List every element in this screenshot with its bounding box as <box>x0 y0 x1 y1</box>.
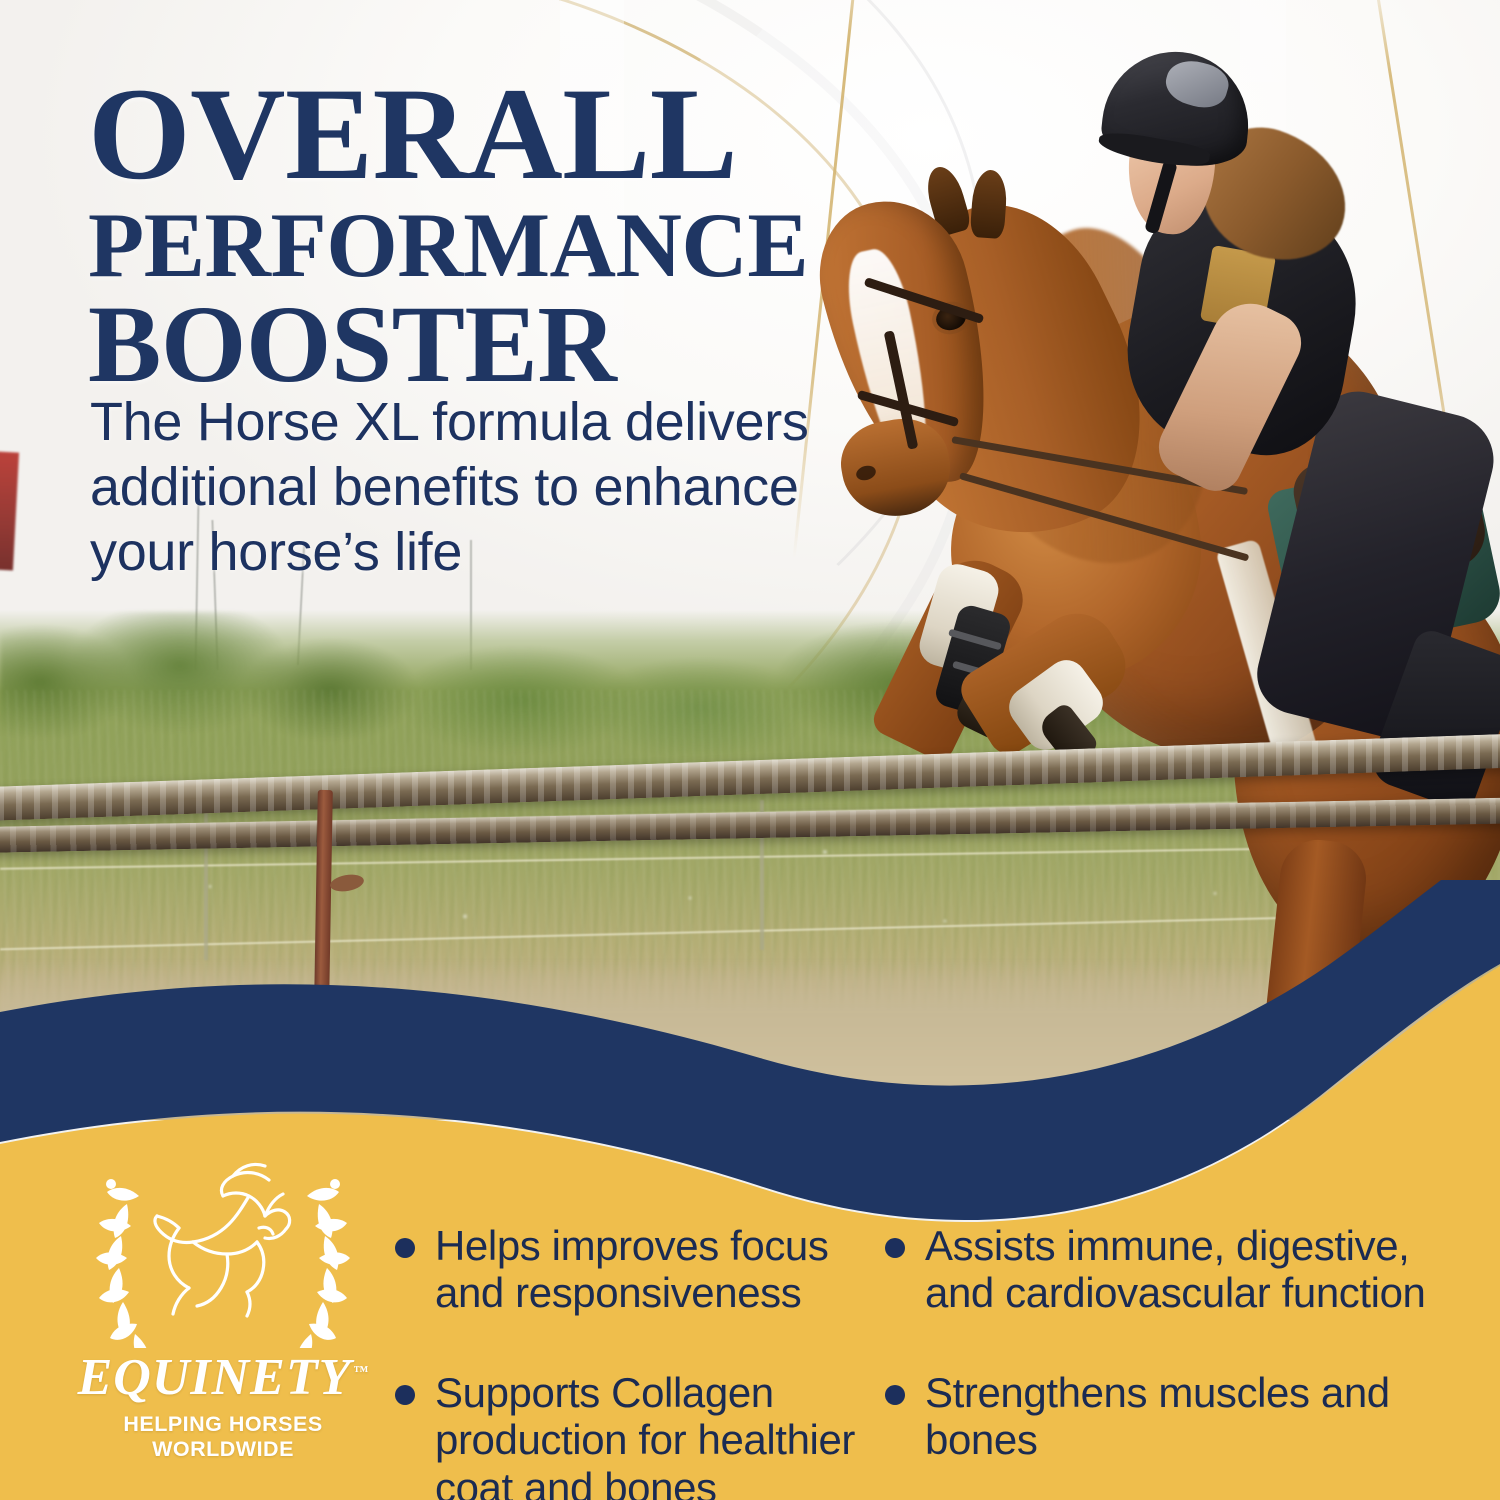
horse-ear-right <box>970 169 1009 239</box>
benefit-item: Helps improves focus and responsiveness <box>395 1222 885 1317</box>
benefit-text: Supports Collagen production for healthi… <box>435 1369 885 1500</box>
benefit-text: Strengthens muscles and bones <box>925 1369 1470 1464</box>
benefit-text: Helps improves focus and responsiveness <box>435 1222 885 1317</box>
headline-block: OVERALL PERFORMANCE BOOSTER <box>88 72 888 396</box>
brand-wordmark-text: EQUINETY <box>78 1349 352 1406</box>
bullet-dot-icon <box>395 1385 415 1405</box>
benefit-text: Assists immune, digestive, and cardiovas… <box>925 1222 1470 1317</box>
headline-line-1: OVERALL <box>88 72 888 196</box>
trademark-symbol: ™ <box>353 1364 368 1380</box>
bullet-dot-icon <box>395 1238 415 1258</box>
brand-logo: EQUINETY™ HELPING HORSES WORLDWIDE <box>58 1158 388 1462</box>
benefits-list: Helps improves focus and responsiveness … <box>395 1222 1470 1500</box>
headline-line-2: PERFORMANCE <box>88 202 888 288</box>
subheadline: The Horse XL formula delivers additional… <box>90 390 850 584</box>
benefit-item: Strengthens muscles and bones <box>885 1369 1470 1500</box>
product-infographic-canvas: OVERALL PERFORMANCE BOOSTER The Horse XL… <box>0 0 1500 1500</box>
benefit-item: Supports Collagen production for healthi… <box>395 1369 885 1500</box>
brand-tagline: HELPING HORSES WORLDWIDE <box>58 1412 388 1462</box>
benefit-item: Assists immune, digestive, and cardiovas… <box>885 1222 1470 1317</box>
brand-wordmark: EQUINETY™ <box>78 1352 369 1404</box>
bullet-dot-icon <box>885 1238 905 1258</box>
laurel-wreath-rearing-horse-icon <box>73 1158 373 1348</box>
headline-line-3: BOOSTER <box>88 293 888 396</box>
bullet-dot-icon <box>885 1385 905 1405</box>
